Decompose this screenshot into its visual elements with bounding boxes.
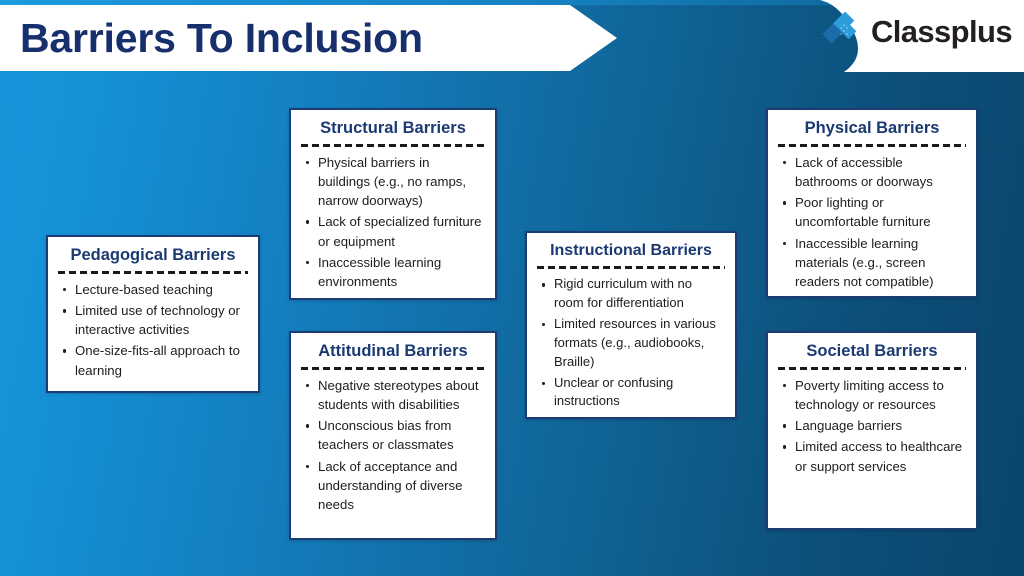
list-item: Lack of accessible bathrooms or doorways (780, 153, 966, 191)
list-item: Rigid curriculum with no room for differ… (539, 275, 725, 313)
list-item: Limited use of technology or interactive… (60, 301, 248, 339)
slide-canvas: Barriers To Inclusion Classplus (0, 0, 1024, 576)
list-item: Language barriers (780, 416, 966, 435)
card-divider (537, 266, 725, 269)
card-bullet-list: Lack of accessible bathrooms or doorways… (778, 153, 966, 291)
list-item: Limited access to healthcare or support … (780, 437, 966, 475)
card-divider (58, 271, 248, 274)
card-divider (301, 144, 485, 147)
brand-wordmark: Classplus (871, 14, 1012, 50)
card-pedagogical-barriers[interactable]: Pedagogical Barriers Lecture-based teach… (46, 235, 260, 393)
card-societal-barriers[interactable]: Societal Barriers Poverty limiting acces… (766, 331, 978, 530)
list-item: Physical barriers in buildings (e.g., no… (303, 153, 485, 210)
card-title: Pedagogical Barriers (58, 246, 248, 265)
list-item: Inaccessible learning environments (303, 253, 485, 291)
card-instructional-barriers[interactable]: Instructional Barriers Rigid curriculum … (525, 231, 737, 419)
list-item: Lecture-based teaching (60, 280, 248, 299)
card-title: Structural Barriers (301, 119, 485, 138)
card-title: Physical Barriers (778, 119, 966, 138)
list-item: Poor lighting or uncomfortable furniture (780, 193, 966, 231)
card-physical-barriers[interactable]: Physical Barriers Lack of accessible bat… (766, 108, 978, 298)
page-title: Barriers To Inclusion (20, 15, 423, 62)
card-title: Societal Barriers (778, 342, 966, 361)
list-item: Negative stereotypes about students with… (303, 376, 485, 414)
card-attitudinal-barriers[interactable]: Attitudinal Barriers Negative stereotype… (289, 331, 497, 540)
list-item: Limited resources in various formats (e.… (539, 315, 725, 372)
card-divider (778, 367, 966, 370)
card-bullet-list: Physical barriers in buildings (e.g., no… (301, 153, 485, 291)
list-item: Inaccessible learning materials (e.g., s… (780, 234, 966, 291)
brand-logo[interactable]: Classplus (823, 10, 1012, 54)
card-bullet-list: Lecture-based teaching Limited use of te… (58, 280, 248, 380)
card-structural-barriers[interactable]: Structural Barriers Physical barriers in… (289, 108, 497, 300)
card-bullet-list: Rigid curriculum with no room for differ… (537, 275, 725, 411)
card-bullet-list: Poverty limiting access to technology or… (778, 376, 966, 476)
card-bullet-list: Negative stereotypes about students with… (301, 376, 485, 514)
card-divider (301, 367, 485, 370)
card-title: Attitudinal Barriers (301, 342, 485, 361)
card-title: Instructional Barriers (537, 242, 725, 260)
list-item: Unclear or confusing instructions (539, 374, 725, 412)
title-banner: Barriers To Inclusion (0, 5, 617, 71)
card-divider (778, 144, 966, 147)
list-item: One-size-fits-all approach to learning (60, 341, 248, 379)
list-item: Unconscious bias from teachers or classm… (303, 416, 485, 454)
classplus-chevron-logo-icon (823, 12, 863, 52)
list-item: Poverty limiting access to technology or… (780, 376, 966, 414)
list-item: Lack of specialized furniture or equipme… (303, 212, 485, 250)
list-item: Lack of acceptance and understanding of … (303, 457, 485, 514)
